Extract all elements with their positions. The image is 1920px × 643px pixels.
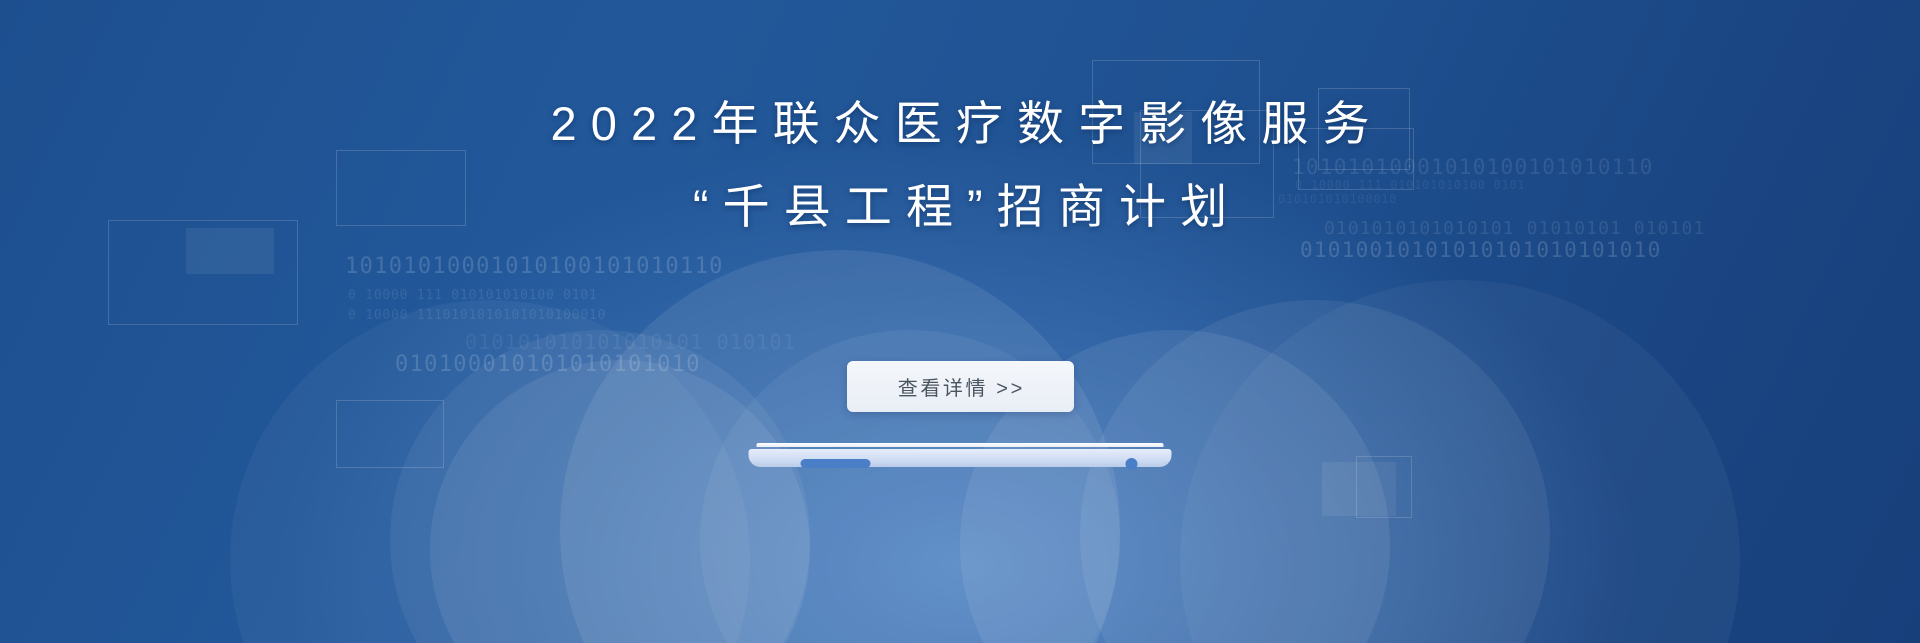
banner-title-line-1: 2022年联众医疗数字影像服务 <box>0 100 1920 147</box>
banner-title-line-2: “千县工程”招商计划 <box>0 183 1920 230</box>
cloud-shape-back-left <box>230 300 750 643</box>
cloud-shape-back-right <box>1180 280 1740 643</box>
cta-container: 查看详情 >> <box>0 361 1920 412</box>
laptop-base-graphic <box>749 443 1172 473</box>
view-details-button[interactable]: 查看详情 >> <box>847 361 1074 412</box>
promo-banner: 10101010001010100101010110 0 10000 111 0… <box>0 0 1920 643</box>
laptop-body <box>749 449 1172 467</box>
laptop-notch-icon <box>801 459 871 468</box>
laptop-indicator-dot-icon <box>1126 458 1138 470</box>
laptop-lid-edge <box>757 443 1164 447</box>
